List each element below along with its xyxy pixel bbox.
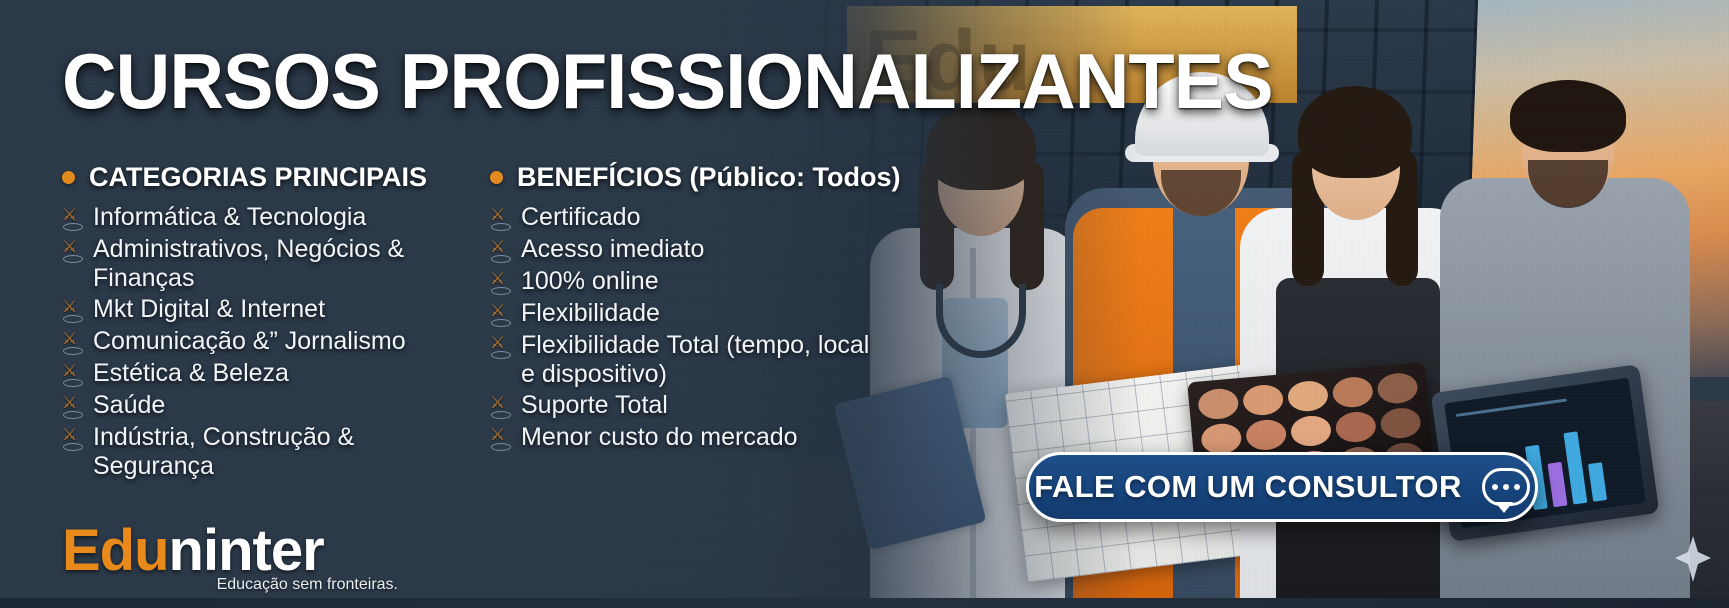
list-item-label: Certificado <box>521 203 890 232</box>
logo-text-primary: Edu <box>62 517 169 584</box>
list-item: ⚔ Indústria, Construção & Segurança <box>62 423 462 481</box>
page-title: CURSOS PROFISSIONALIZANTES <box>62 42 1273 120</box>
content-columns: CATEGORIAS PRINCIPAIS ⚔ Informática & Te… <box>62 162 890 483</box>
promo-banner: Edu <box>0 0 1729 608</box>
column-benefits-header: BENEFÍCIOS (Público: Todos) <box>490 162 890 193</box>
list-item: ⚔ Flexibilidade <box>490 299 890 329</box>
list-item: ⚔ Saúde <box>62 391 462 421</box>
graduation-cap-icon: ⚔ <box>62 395 84 421</box>
list-item: ⚔ Acesso imediato <box>490 235 890 265</box>
categories-list: ⚔ Informática & Tecnologia ⚔ Administrat… <box>62 203 462 481</box>
list-item: ⚔ Flexibilidade Total (tempo, local e di… <box>490 331 890 389</box>
list-item-label: Estética & Beleza <box>93 359 462 388</box>
logo-text-secondary: ninter <box>169 517 324 584</box>
graduation-cap-icon: ⚔ <box>490 395 512 421</box>
column-categories-header: CATEGORIAS PRINCIPAIS <box>62 162 462 193</box>
graduation-cap-icon: ⚔ <box>490 335 512 361</box>
list-item-label: Mkt Digital & Internet <box>93 295 462 324</box>
list-item: ⚔ Administrativos, Negócios & Finanças <box>62 235 462 293</box>
sparkle-icon <box>1673 534 1713 586</box>
cta-button-label: FALE COM UM CONSULTOR <box>1034 469 1461 505</box>
list-item: ⚔ Mkt Digital & Internet <box>62 295 462 325</box>
list-item: ⚔ Certificado <box>490 203 890 233</box>
brand-logo: Edu ninter Educação sem fronteiras. <box>62 517 402 594</box>
graduation-cap-icon: ⚔ <box>62 239 84 265</box>
list-item-label: Indústria, Construção & Segurança <box>93 423 462 481</box>
list-item-label: Informática & Tecnologia <box>93 203 462 232</box>
column-benefits: BENEFÍCIOS (Público: Todos) ⚔ Certificad… <box>490 162 890 483</box>
bullet-dot-icon <box>490 171 503 184</box>
graduation-cap-icon: ⚔ <box>62 331 84 357</box>
graduation-cap-icon: ⚔ <box>490 239 512 265</box>
list-item: ⚔ Menor custo do mercado <box>490 423 890 453</box>
list-item-label: Suporte Total <box>521 391 890 420</box>
list-item: ⚔ Comunicação &” Jornalismo <box>62 327 462 357</box>
list-item-label: Flexibilidade <box>521 299 890 328</box>
cta-button[interactable]: FALE COM UM CONSULTOR <box>1026 452 1538 522</box>
list-item-label: Comunicação &” Jornalismo <box>93 327 462 356</box>
graduation-cap-icon: ⚔ <box>490 207 512 233</box>
chat-bubble-icon <box>1482 468 1530 506</box>
column-categories-title: CATEGORIAS PRINCIPAIS <box>89 162 427 193</box>
column-benefits-title: BENEFÍCIOS (Público: Todos) <box>517 162 900 193</box>
benefits-list: ⚔ Certificado ⚔ Acesso imediato ⚔ 100% o… <box>490 203 890 453</box>
list-item-label: Saúde <box>93 391 462 420</box>
graduation-cap-icon: ⚔ <box>62 427 84 453</box>
bullet-dot-icon <box>62 171 75 184</box>
graduation-cap-icon: ⚔ <box>490 303 512 329</box>
bottom-edge-bar <box>0 598 1729 608</box>
graduation-cap-icon: ⚔ <box>490 427 512 453</box>
list-item-label: Menor custo do mercado <box>521 423 890 452</box>
list-item-label: Acesso imediato <box>521 235 890 264</box>
graduation-cap-icon: ⚔ <box>62 299 84 325</box>
graduation-cap-icon: ⚔ <box>62 207 84 233</box>
list-item-label: 100% online <box>521 267 890 296</box>
column-categories: CATEGORIAS PRINCIPAIS ⚔ Informática & Te… <box>62 162 462 483</box>
list-item-label: Administrativos, Negócios & Finanças <box>93 235 462 293</box>
list-item: ⚔ Estética & Beleza <box>62 359 462 389</box>
list-item: ⚔ 100% online <box>490 267 890 297</box>
list-item: ⚔ Informática & Tecnologia <box>62 203 462 233</box>
list-item-label: Flexibilidade Total (tempo, local e disp… <box>521 331 890 389</box>
graduation-cap-icon: ⚔ <box>62 363 84 389</box>
list-item: ⚔ Suporte Total <box>490 391 890 421</box>
graduation-cap-icon: ⚔ <box>490 271 512 297</box>
